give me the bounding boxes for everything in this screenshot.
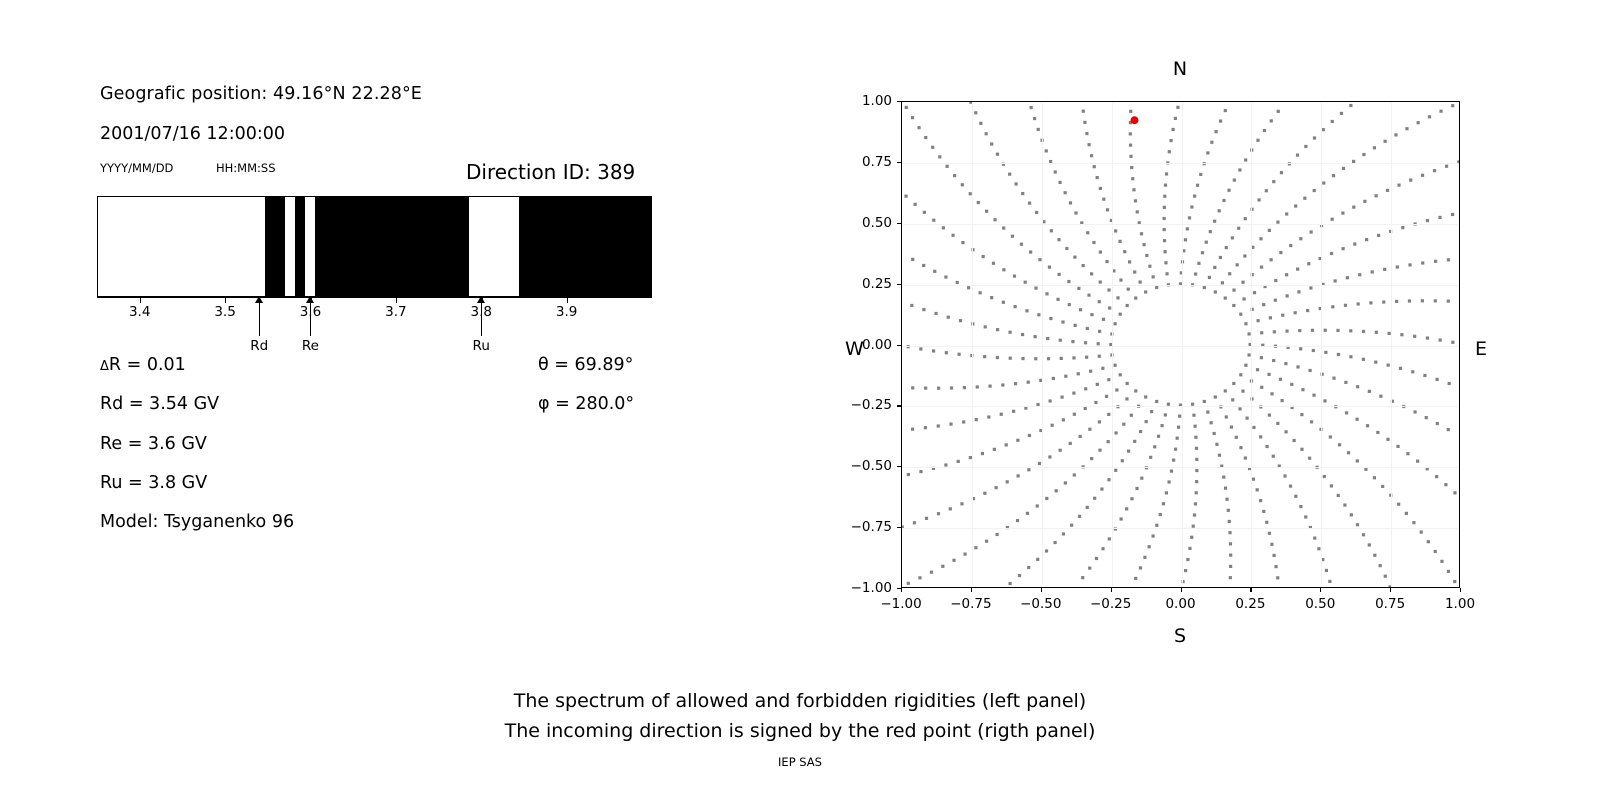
direction-point: [1309, 369, 1312, 372]
delta-r-param: ΔR = 0.01: [100, 355, 186, 375]
direction-point: [1059, 449, 1062, 452]
direction-point: [932, 349, 935, 352]
direction-point: [1139, 430, 1142, 433]
direction-point: [1167, 480, 1170, 483]
direction-point: [1213, 266, 1216, 269]
direction-point: [1048, 455, 1051, 458]
direction-point: [1107, 413, 1110, 416]
direction-point: [1045, 497, 1048, 500]
direction-point: [1077, 372, 1080, 375]
direction-point: [1270, 543, 1273, 546]
gridline-horizontal: [902, 406, 1459, 407]
direction-point: [1122, 423, 1125, 426]
spectrum-band-forbidden: [265, 197, 285, 296]
direction-point: [962, 420, 965, 423]
direction-point: [1190, 205, 1193, 208]
direction-point: [1155, 400, 1158, 403]
direction-point: [1379, 564, 1382, 567]
direction-point: [1368, 543, 1371, 546]
direction-point: [1092, 241, 1095, 244]
direction-point: [1186, 558, 1189, 561]
direction-point: [1214, 395, 1217, 398]
direction-point: [1126, 382, 1129, 385]
direction-point: [1383, 268, 1386, 271]
direction-point: [1057, 238, 1060, 241]
direction-point: [1312, 394, 1315, 397]
direction-point: [975, 418, 978, 421]
direction-point: [1150, 410, 1153, 413]
direction-point: [1229, 554, 1232, 557]
direction-point: [1408, 263, 1411, 266]
compass-label-south: S: [1174, 625, 1186, 647]
direction-point: [1214, 130, 1217, 133]
direction-point: [1021, 192, 1024, 195]
direction-point: [1330, 252, 1333, 255]
direction-point: [1232, 382, 1235, 385]
direction-point: [1376, 431, 1379, 434]
direction-point: [996, 153, 999, 156]
direction-point: [1362, 358, 1365, 361]
direction-point: [1386, 438, 1389, 441]
direction-point: [1230, 425, 1233, 428]
direction-point: [1281, 314, 1284, 317]
direction-point: [982, 255, 985, 258]
x-tick-mark: [971, 588, 972, 592]
y-tick-mark: [897, 284, 901, 285]
direction-point: [1062, 532, 1065, 535]
direction-point: [1203, 400, 1206, 403]
direction-point: [1021, 333, 1024, 336]
direction-point: [1285, 212, 1288, 215]
direction-point: [1096, 176, 1099, 179]
direction-point: [1143, 556, 1146, 559]
direction-point: [1256, 488, 1259, 491]
direction-point: [1197, 262, 1200, 265]
direction-point: [1069, 201, 1072, 204]
direction-point: [1164, 261, 1167, 264]
direction-point: [1160, 424, 1163, 427]
direction-point: [1068, 303, 1071, 306]
direction-point: [977, 201, 980, 204]
direction-point: [1163, 228, 1166, 231]
direction-point: [1014, 382, 1017, 385]
direction-point: [1048, 266, 1051, 269]
gridline-horizontal: [902, 224, 1459, 225]
direction-point: [1312, 349, 1315, 352]
direction-point: [1073, 473, 1076, 476]
direction-point: [1081, 576, 1084, 579]
direction-point: [1074, 324, 1077, 327]
direction-point: [1382, 300, 1385, 303]
direction-point: [1413, 410, 1416, 413]
direction-point: [911, 428, 914, 431]
direction-point: [1155, 286, 1158, 289]
spectrum-tick-label: 3.5: [214, 304, 235, 320]
direction-point: [1218, 209, 1221, 212]
direction-point: [1342, 247, 1345, 250]
direction-point: [985, 540, 988, 543]
direction-point: [1323, 475, 1326, 478]
direction-point: [961, 183, 964, 186]
direction-point: [1090, 272, 1093, 275]
direction-point: [1225, 498, 1228, 501]
direction-point: [1311, 329, 1314, 332]
direction-point: [910, 304, 913, 307]
model-param: Model: Tsyganenko 96: [100, 512, 294, 532]
direction-point: [1243, 254, 1246, 257]
direction-point: [919, 470, 922, 473]
direction-point: [1227, 509, 1230, 512]
direction-point: [1222, 199, 1225, 202]
direction-point: [1085, 132, 1088, 135]
direction-point: [1035, 211, 1038, 214]
direction-point: [1213, 432, 1216, 435]
direction-point: [1082, 264, 1085, 267]
direction-point: [934, 312, 937, 315]
direction-point: [1259, 237, 1262, 240]
direction-point: [1079, 308, 1082, 311]
direction-point: [1294, 495, 1297, 498]
direction-point: [1125, 397, 1128, 400]
direction-point: [1082, 110, 1085, 113]
direction-point: [979, 122, 982, 125]
direction-point: [1049, 317, 1052, 320]
delta-symbol: Δ: [100, 359, 109, 374]
direction-point: [1293, 439, 1296, 442]
spectrum-tick-label: 3.4: [129, 304, 150, 320]
direction-point: [1236, 263, 1239, 266]
direction-point: [1362, 330, 1365, 333]
direction-point: [1016, 439, 1019, 442]
direction-point: [1060, 396, 1063, 399]
y-tick-mark: [897, 345, 901, 346]
ru-param: Ru = 3.8 GV: [100, 473, 207, 493]
direction-point: [974, 546, 977, 549]
direction-point: [1131, 177, 1134, 180]
direction-point: [1256, 139, 1259, 142]
spectrum-bands: [97, 196, 652, 297]
direction-point: [937, 424, 940, 427]
direction-point: [1411, 370, 1414, 373]
direction-point: [1144, 395, 1147, 398]
direction-point: [1134, 296, 1137, 299]
direction-point: [967, 286, 970, 289]
y-tick-label: −0.25: [839, 397, 892, 413]
direction-point: [1140, 232, 1143, 235]
x-tick-mark: [1041, 588, 1042, 592]
direction-point: [1193, 513, 1196, 516]
direction-point: [1447, 570, 1450, 573]
direction-point: [1011, 235, 1014, 238]
direction-point: [1417, 121, 1420, 124]
direction-point: [1352, 206, 1355, 209]
direction-point: [1229, 576, 1232, 579]
rd-param: Rd = 3.54 GV: [100, 394, 219, 414]
direction-point: [1244, 158, 1247, 161]
direction-point: [1118, 240, 1121, 243]
direction-point: [1089, 370, 1092, 373]
direction-point: [1193, 425, 1196, 428]
y-tick-label: 0.75: [839, 154, 892, 170]
direction-point: [1099, 280, 1102, 283]
direction-point: [1267, 373, 1270, 376]
direction-point: [1093, 165, 1096, 168]
direction-point: [1099, 187, 1102, 190]
direction-point: [1033, 117, 1036, 120]
direction-point: [944, 275, 947, 278]
direction-point: [1219, 119, 1222, 122]
direction-point: [1284, 430, 1287, 433]
direction-point: [1413, 335, 1416, 338]
direction-point: [1108, 537, 1111, 540]
direction-point: [1005, 443, 1008, 446]
direction-point: [911, 386, 914, 389]
direction-point: [933, 270, 936, 273]
direction-point: [922, 308, 925, 311]
direction-point: [1062, 418, 1065, 421]
direction-point: [1073, 256, 1076, 259]
direction-point: [1279, 378, 1282, 381]
direction-point: [1001, 383, 1004, 386]
direction-point: [1086, 231, 1089, 234]
direction-point: [1060, 357, 1063, 360]
direction-point: [1107, 440, 1110, 443]
direction-point: [1239, 313, 1242, 316]
direction-point: [1013, 275, 1016, 278]
x-tick-mark: [901, 588, 902, 592]
gridline-horizontal: [902, 285, 1459, 286]
footer-text: IEP SAS: [0, 755, 1600, 769]
direction-point: [1294, 204, 1297, 207]
direction-point: [1265, 521, 1268, 524]
direction-point: [1362, 153, 1365, 156]
direction-point: [1239, 446, 1242, 449]
direction-point: [1244, 217, 1247, 220]
direction-point: [1341, 212, 1344, 215]
direction-point: [1408, 299, 1411, 302]
direction-point: [1270, 119, 1273, 122]
direction-point: [1451, 341, 1454, 344]
direction-point: [1048, 399, 1051, 402]
direction-point: [942, 226, 945, 229]
direction-point: [1349, 329, 1352, 332]
direction-point: [1298, 329, 1301, 332]
direction-point: [1310, 420, 1313, 423]
direction-point: [1260, 386, 1263, 389]
direction-point: [1349, 355, 1352, 358]
direction-point: [1086, 506, 1089, 509]
direction-point: [1152, 275, 1155, 278]
direction-point: [1426, 219, 1429, 222]
direction-point: [1263, 129, 1266, 132]
direction-point: [1085, 356, 1088, 359]
direction-point: [1206, 410, 1209, 413]
direction-point: [1396, 265, 1399, 268]
direction-point: [1284, 362, 1287, 365]
direction-point: [1034, 287, 1037, 290]
direction-point: [1324, 351, 1327, 354]
direction-point: [1233, 178, 1236, 181]
direction-point: [941, 565, 944, 568]
direction-point: [1409, 179, 1412, 182]
direction-point: [1127, 450, 1130, 453]
direction-point: [1213, 220, 1216, 223]
direction-point: [949, 423, 952, 426]
direction-point: [1281, 399, 1284, 402]
direction-point: [1038, 462, 1041, 465]
direction-point: [1195, 469, 1198, 472]
caption-line-2: The incoming direction is signed by the …: [0, 716, 1600, 746]
direction-point: [1093, 497, 1096, 500]
direction-point: [1145, 420, 1148, 423]
direction-point: [1299, 237, 1302, 240]
direction-point: [1344, 381, 1347, 384]
x-tick-label: 0.75: [1375, 596, 1405, 612]
direction-point: [1277, 110, 1280, 113]
marker-arrow-line-rd: [259, 298, 260, 336]
x-tick-label: −0.50: [1020, 596, 1061, 612]
direction-point: [1206, 151, 1209, 154]
direction-point: [1069, 442, 1072, 445]
direction-point: [1098, 300, 1101, 303]
direction-point: [1285, 294, 1288, 297]
direction-point: [1096, 383, 1099, 386]
direction-point: [1036, 558, 1039, 561]
direction-point: [1222, 476, 1225, 479]
direction-point: [1058, 181, 1061, 184]
direction-point: [1371, 270, 1374, 273]
direction-point: [1325, 569, 1328, 572]
direction-point: [985, 210, 988, 213]
spectrum-tick: [567, 296, 568, 303]
y-tick-label: −0.50: [839, 458, 892, 474]
spectrum-band-forbidden: [315, 197, 470, 296]
direction-point: [1343, 503, 1346, 506]
direction-point: [1064, 481, 1067, 484]
direction-point: [1365, 238, 1368, 241]
direction-point: [1228, 272, 1231, 275]
direction-point: [1105, 395, 1108, 398]
date-format-hint: YYYY/MM/DD: [100, 161, 173, 175]
direction-point: [1018, 574, 1021, 577]
direction-point: [1400, 333, 1403, 336]
direction-point: [956, 281, 959, 284]
direction-point: [1188, 547, 1191, 550]
spectrum-tick: [140, 296, 141, 303]
direction-point: [1088, 428, 1091, 431]
direction-point: [961, 241, 964, 244]
direction-point: [1436, 422, 1439, 425]
direction-point: [983, 355, 986, 358]
direction-point: [1102, 318, 1105, 321]
direction-point: [1142, 243, 1145, 246]
direction-point: [1121, 459, 1124, 462]
direction-point: [1134, 389, 1137, 392]
direction-point: [1453, 491, 1456, 494]
direction-point: [957, 460, 960, 463]
direction-point: [963, 386, 966, 389]
direction-point: [1259, 435, 1262, 438]
direction-point: [1270, 392, 1273, 395]
direction-point: [914, 203, 917, 206]
direction-point: [1218, 454, 1221, 457]
direction-point: [1447, 428, 1450, 431]
direction-point: [1331, 305, 1334, 308]
direction-point: [1340, 112, 1343, 115]
direction-point: [1252, 426, 1255, 429]
direction-point: [1337, 353, 1340, 356]
direction-point: [1094, 401, 1097, 404]
direction-point: [1071, 340, 1074, 343]
y-tick-mark: [897, 162, 901, 163]
direction-point: [1134, 199, 1137, 202]
direction-point: [1174, 117, 1177, 120]
direction-point: [1163, 217, 1166, 220]
direction-point: [1045, 149, 1048, 152]
direction-point: [1130, 166, 1133, 169]
direction-id-text: Direction ID: 389: [466, 160, 635, 184]
direction-point: [1149, 456, 1152, 459]
direction-point: [1451, 104, 1454, 107]
direction-point: [1423, 374, 1426, 377]
direction-point: [1138, 280, 1141, 283]
direction-point: [1098, 449, 1101, 452]
direction-point: [1079, 435, 1082, 438]
direction-point: [1140, 477, 1143, 480]
direction-point: [1384, 140, 1387, 143]
y-tick-mark: [897, 223, 901, 224]
direction-point: [1394, 133, 1397, 136]
direction-point: [959, 319, 962, 322]
left-panel: Geografic position: 49.16°N 22.28°E 2001…: [0, 0, 760, 620]
re-param: Re = 3.6 GV: [100, 434, 207, 454]
direction-point: [1116, 296, 1119, 299]
gridline-horizontal: [902, 163, 1459, 164]
direction-point: [1064, 191, 1067, 194]
rigidity-spectrum-chart: 3.43.53.63.73.83.9RdReRu: [97, 196, 652, 297]
direction-point: [1276, 576, 1279, 579]
direction-point: [1308, 457, 1311, 460]
x-tick-label: 0.25: [1235, 596, 1265, 612]
direction-point: [938, 155, 941, 158]
x-tick-label: −0.25: [1090, 596, 1131, 612]
direction-point: [1447, 300, 1450, 303]
spectrum-tick-label: 3.9: [556, 304, 577, 320]
direction-point: [1088, 567, 1091, 570]
direction-point: [1002, 268, 1005, 271]
direction-point: [1296, 268, 1299, 271]
direction-point: [1309, 286, 1312, 289]
direction-point: [1395, 300, 1398, 303]
direction-point: [913, 521, 916, 524]
direction-point: [1241, 390, 1244, 393]
direction-point: [993, 448, 996, 451]
direction-point: [1129, 144, 1132, 147]
direction-point: [1296, 153, 1299, 156]
direction-point: [1195, 491, 1198, 494]
direction-point: [1447, 258, 1450, 261]
direction-point: [1029, 250, 1032, 253]
direction-point: [1313, 136, 1316, 139]
direction-point: [1123, 250, 1126, 253]
direction-point: [1163, 206, 1166, 209]
direction-point: [1244, 364, 1247, 367]
direction-point: [949, 507, 952, 510]
direction-point: [1253, 291, 1256, 294]
direction-point: [1008, 331, 1011, 334]
direction-point: [1098, 355, 1101, 358]
direction-point: [1356, 418, 1359, 421]
